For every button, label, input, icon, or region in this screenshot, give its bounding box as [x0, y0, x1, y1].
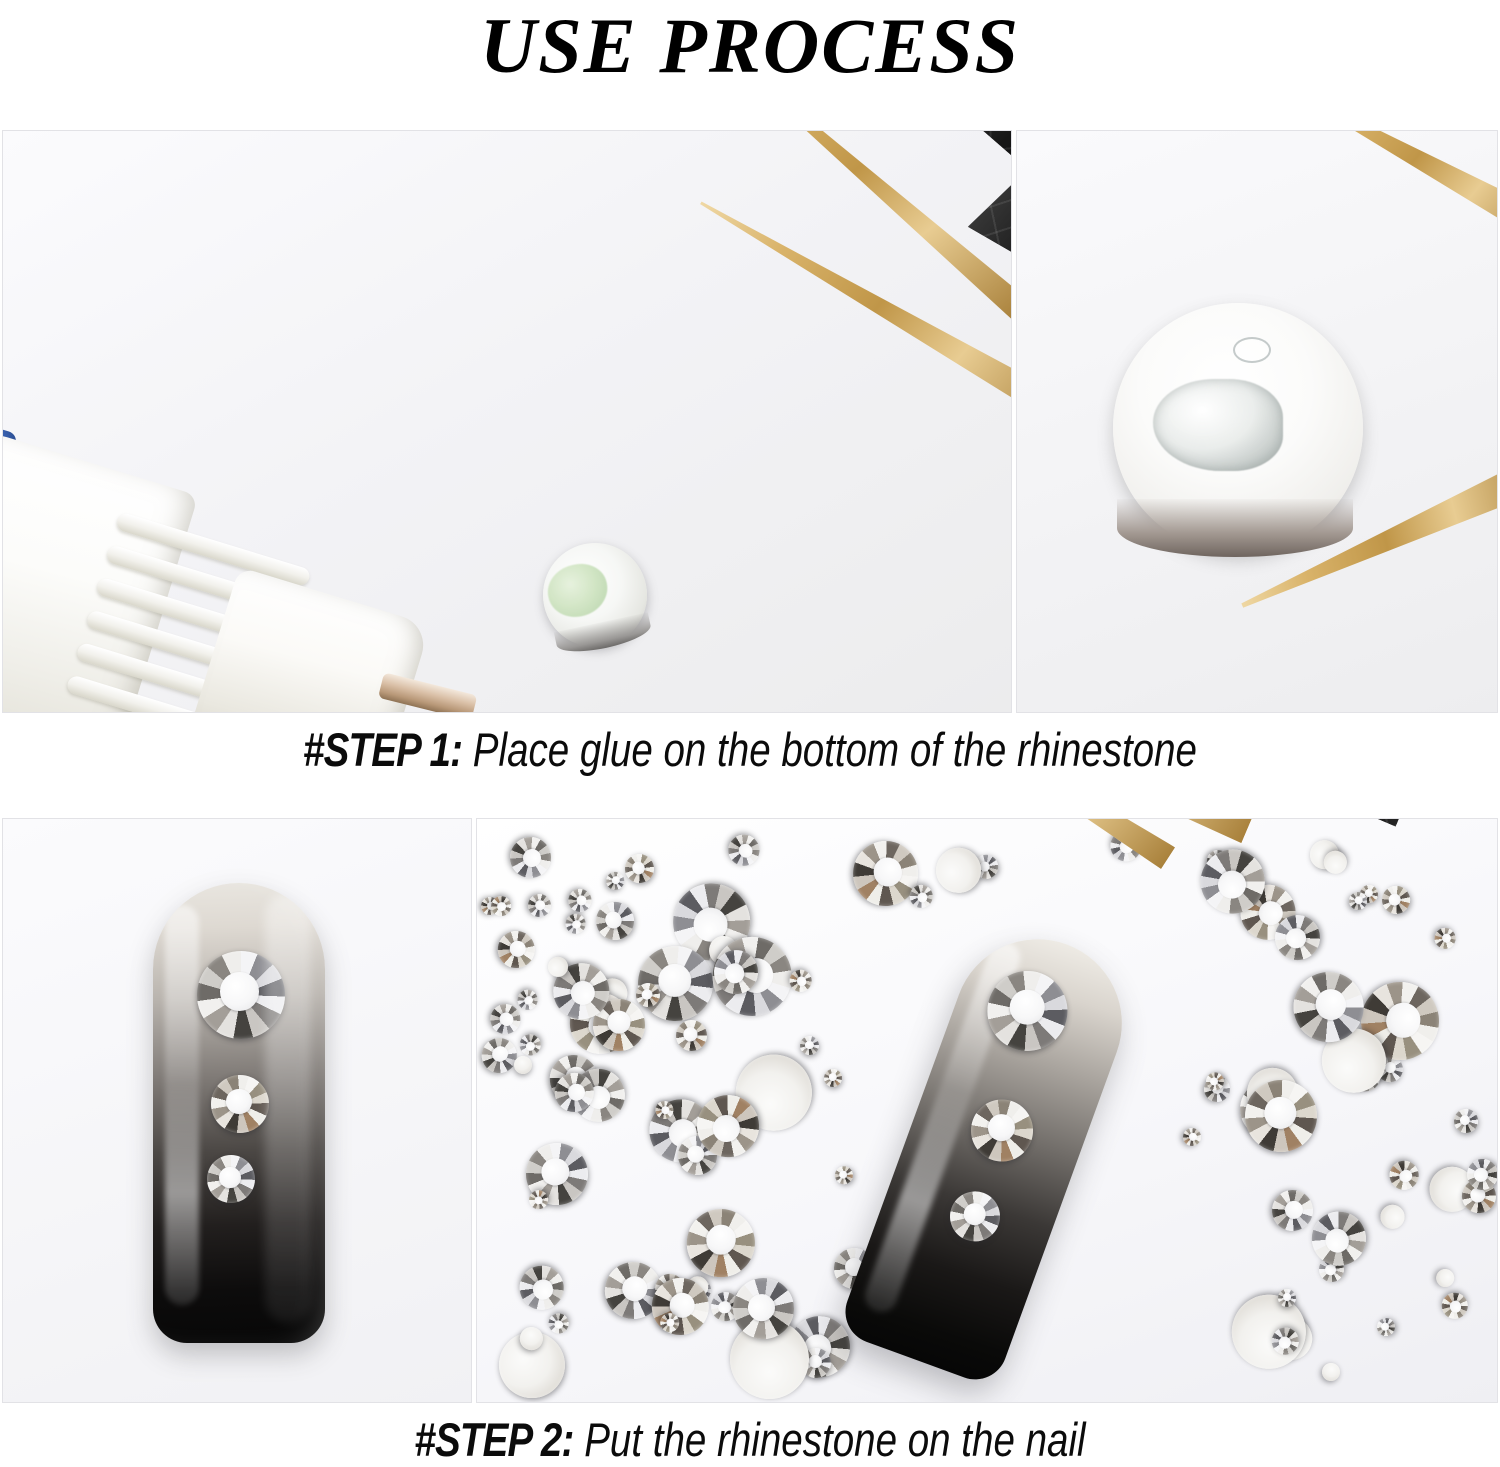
rhinestone-back-closeup-photo — [1016, 130, 1498, 713]
rhinestone-scatter-photo — [476, 818, 1498, 1403]
glue-drop — [1153, 379, 1283, 471]
rhinestone-medium — [962, 1091, 1041, 1170]
rhinestone-small — [207, 1155, 255, 1203]
finished-nail-photo — [2, 818, 472, 1403]
rhinestone-medium — [211, 1075, 269, 1133]
step-1-text: Place glue on the bottom of the rhinesto… — [462, 723, 1197, 776]
step-1-label: #STEP 1: — [303, 723, 462, 776]
step-2-text: Put the rhinestone on the nail — [573, 1413, 1085, 1466]
rhinestone-small — [943, 1184, 1007, 1248]
use-process-infographic: USE PROCESS #STEP 1: Place glu — [0, 0, 1500, 1466]
step-2-label: #STEP 2: — [414, 1413, 573, 1466]
step-2-caption: #STEP 2: Put the rhinestone on the nail — [135, 1412, 1365, 1467]
page-title: USE PROCESS — [0, 0, 1500, 96]
rhinestone-large — [976, 960, 1079, 1063]
rhinestone-large — [197, 951, 285, 1039]
rhinestone-flat-back — [1113, 303, 1363, 553]
gradient-nail — [153, 883, 325, 1343]
glue-bubble — [1233, 337, 1271, 363]
step-1-caption: #STEP 1: Place glue on the bottom of the… — [135, 722, 1365, 777]
glue-application-photo — [2, 130, 1012, 713]
